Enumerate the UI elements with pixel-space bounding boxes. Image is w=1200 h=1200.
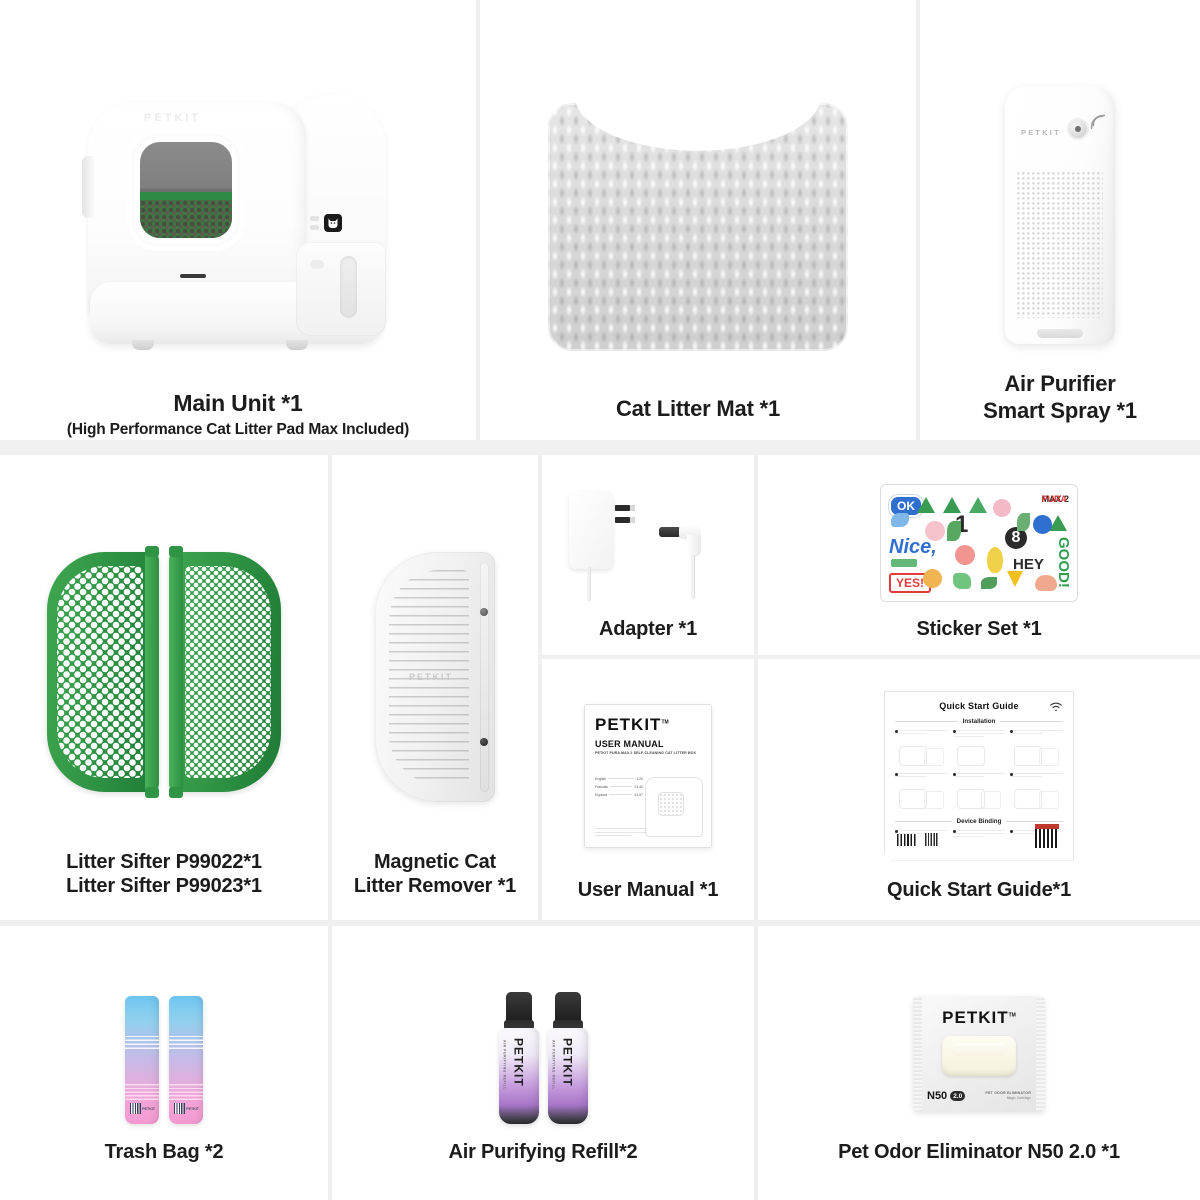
manual-brand-label: PETKITTM — [595, 715, 701, 735]
hand-sticker-icon — [891, 513, 909, 527]
litter-sifter-label-line1: Litter Sifter P99022*1 — [60, 850, 268, 874]
magnetic-remover-label-line2: Litter Remover *1 — [348, 874, 522, 920]
toc-language: Francais — [595, 785, 608, 789]
cat-litter-mat-label: Cat Litter Mat *1 — [610, 396, 786, 440]
tree-sticker-icon — [943, 497, 961, 513]
trash-bag-brand: PETKIT — [142, 1107, 155, 1111]
trash-bag-label: Trash Bag *2 — [99, 1140, 230, 1200]
sun-face-sticker-icon — [923, 569, 942, 588]
wifi-icon — [1049, 700, 1063, 712]
power-adapter-icon — [563, 483, 733, 603]
cat-face-icon — [324, 214, 342, 232]
poop-sticker-icon — [1035, 575, 1057, 591]
quick-start-guide-icon: Quick Start Guide Installation — [884, 691, 1074, 861]
adapter-label: Adapter *1 — [593, 617, 703, 655]
package-contents-sheet: PETKIT — [0, 0, 1200, 1200]
balloon-sticker-icon — [1033, 515, 1052, 534]
tree-sticker-icon — [917, 497, 935, 513]
tree-sticker-icon — [969, 497, 987, 513]
sticker-set-illustration: OK Nice, YES! HEY GOOD! PURAMAX 2 1 8 — [758, 469, 1200, 617]
sticker-nice: Nice, — [889, 537, 937, 557]
item-cell-pet-odor-eliminator[interactable]: PETKITTM N502.0 PET ODOR ELIMINATOR Magi… — [758, 926, 1200, 1200]
item-cell-user-manual[interactable]: PETKITTM USER MANUAL PETKIT PURA MAX 2 S… — [542, 659, 754, 920]
refill-bottle-icon: PETKIT AIR PURIFYING REFILL PETKIT AIR P… — [468, 984, 618, 1124]
sticker-sheet-icon: OK Nice, YES! HEY GOOD! PURAMAX 2 1 8 — [880, 484, 1078, 602]
litter-sifter-icon — [39, 552, 289, 802]
air-purifier-icon: PETKIT — [1005, 86, 1115, 344]
trash-bag-brand: PETKIT — [186, 1107, 199, 1111]
sticker-puramax: PURAMAX 2 — [1041, 495, 1069, 504]
sticker-hey: HEY — [1013, 557, 1044, 572]
litter-mat-icon — [548, 103, 848, 351]
item-cell-litter-sifter[interactable]: Litter Sifter P99022*1 Litter Sifter P99… — [0, 455, 328, 920]
pouch-brand-label: PETKITTM — [925, 1008, 1033, 1028]
air-purifying-refill-label: Air Purifying Refill*2 — [443, 1140, 644, 1200]
item-cell-quick-start-guide[interactable]: Quick Start Guide Installation — [758, 659, 1200, 920]
signal-wave-icon — [1087, 110, 1109, 132]
qr-code-icon — [925, 833, 938, 846]
main-unit-label: Main Unit *1 — [167, 390, 308, 418]
flower-sticker-icon — [925, 521, 945, 541]
main-unit-brand-label: PETKIT — [144, 112, 201, 124]
refill-side-text: AIR PURIFYING REFILL — [503, 1040, 507, 1090]
litter-sifter-label-line2: Litter Sifter P99023*1 — [60, 874, 268, 920]
item-cell-air-purifier[interactable]: PETKIT Air Purifier Smart Spray *1 — [920, 0, 1200, 440]
manual-device-drawing — [645, 777, 703, 837]
trash-bag-roll-icon: PETKIT PETKIT — [89, 984, 239, 1124]
magnetic-remover-illustration: PETKIT — [332, 503, 538, 850]
item-cell-adapter[interactable]: Adapter *1 — [542, 455, 754, 655]
qsg-steps-installation — [895, 730, 1063, 811]
sensor-icon — [1067, 118, 1089, 140]
leaf-sticker-icon — [981, 577, 997, 589]
toc-language: English — [595, 777, 606, 781]
flower-sticker-icon — [955, 545, 975, 565]
leaf-sticker-icon — [947, 521, 961, 541]
item-cell-sticker-set[interactable]: OK Nice, YES! HEY GOOD! PURAMAX 2 1 8 — [758, 455, 1200, 655]
manual-title: USER MANUAL — [595, 739, 701, 749]
thumbs-up-sticker-icon — [953, 573, 971, 589]
cartridge-icon — [942, 1036, 1016, 1076]
user-manual-illustration: PETKITTM USER MANUAL PETKIT PURA MAX 2 S… — [542, 673, 754, 878]
air-purifier-label-line2: Smart Spray *1 — [977, 398, 1143, 440]
trash-bag-illustration: PETKIT PETKIT — [0, 968, 328, 1140]
main-unit-illustration: PETKIT — [0, 58, 476, 390]
pear-sticker-icon — [987, 547, 1003, 573]
leaf-sticker-icon — [1017, 513, 1030, 531]
air-purifier-illustration: PETKIT — [920, 58, 1200, 371]
quick-start-guide-illustration: Quick Start Guide Installation — [758, 673, 1200, 878]
toc-page: 21-40 — [634, 785, 643, 789]
user-manual-icon: PETKITTM USER MANUAL PETKIT PURA MAX 2 S… — [584, 704, 712, 848]
air-purifier-brand-label: PETKIT — [1021, 128, 1061, 137]
adapter-illustration — [542, 469, 754, 617]
item-cell-cat-litter-mat[interactable]: Cat Litter Mat *1 — [480, 0, 916, 440]
litter-sifter-illustration — [0, 503, 328, 850]
refill-brand-label: PETKIT — [561, 1038, 575, 1087]
qsg-section-installation: Installation — [895, 718, 1063, 725]
manual-subtitle: PETKIT PURA MAX 2 SELF-CLEANING CAT LITT… — [595, 751, 701, 755]
item-cell-trash-bag[interactable]: PETKIT PETKIT Trash Bag *2 — [0, 926, 328, 1200]
qr-code-icon — [1035, 824, 1059, 848]
manual-footnote-lines — [595, 828, 647, 839]
user-manual-label: User Manual *1 — [572, 878, 725, 920]
flower-sticker-icon — [993, 499, 1011, 517]
manual-toc: English1-20 Francais21-40 Espanol41-57 — [595, 777, 643, 801]
item-cell-air-purifying-refill[interactable]: PETKIT AIR PURIFYING REFILL PETKIT AIR P… — [332, 926, 754, 1200]
quick-start-guide-label: Quick Start Guide*1 — [881, 878, 1077, 920]
main-unit-sublabel: (High Performance Cat Litter Pad Max Inc… — [61, 421, 415, 440]
pouch-model-label: N502.0 — [927, 1090, 965, 1102]
magnetic-remover-brand-label: PETKIT — [409, 672, 453, 682]
toc-page: 1-20 — [636, 777, 643, 781]
refill-brand-label: PETKIT — [512, 1038, 526, 1087]
lightning-sticker-icon — [1007, 571, 1023, 587]
sticker-good: GOOD! — [1056, 537, 1071, 588]
odor-eliminator-pouch-icon: PETKITTM N502.0 PET ODOR ELIMINATOR Magi… — [913, 996, 1045, 1112]
barcode-icon — [897, 834, 917, 846]
cat-litter-mat-illustration — [480, 58, 916, 396]
pet-odor-eliminator-label: Pet Odor Eliminator N50 2.0 *1 — [832, 1140, 1126, 1200]
qsg-title: Quick Start Guide — [895, 701, 1063, 711]
pet-odor-eliminator-illustration: PETKITTM N502.0 PET ODOR ELIMINATOR Magi… — [758, 968, 1200, 1140]
air-purifier-label-line1: Air Purifier — [998, 371, 1121, 397]
item-cell-magnetic-remover[interactable]: PETKIT Magnetic Cat Litter Remover *1 — [332, 455, 538, 920]
magnetic-remover-icon: PETKIT — [375, 552, 495, 802]
air-purifying-refill-illustration: PETKIT AIR PURIFYING REFILL PETKIT AIR P… — [332, 968, 754, 1140]
sticker-set-label: Sticker Set *1 — [910, 617, 1047, 655]
arrow-sticker-icon — [891, 559, 917, 567]
toc-page: 41-57 — [634, 793, 643, 797]
toc-language: Espanol — [595, 793, 607, 797]
magnetic-remover-label-line1: Magnetic Cat — [368, 850, 502, 874]
refill-side-text: AIR PURIFYING REFILL — [552, 1040, 556, 1090]
pouch-descriptor: PET ODOR ELIMINATOR Magic Cartridge — [985, 1091, 1031, 1101]
litter-box-icon: PETKIT — [88, 94, 388, 354]
item-cell-main-unit[interactable]: PETKIT — [0, 0, 476, 440]
